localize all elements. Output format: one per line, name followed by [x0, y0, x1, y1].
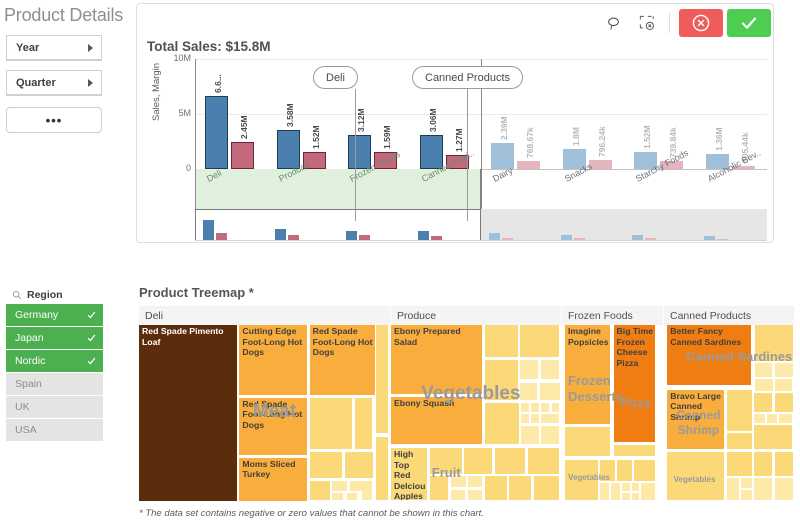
treemap-cell-small[interactable] [485, 325, 518, 357]
treemap-cell-small[interactable] [552, 403, 560, 412]
treemap-cell-label: Red Spade Pimento Loaf [142, 326, 235, 347]
minimap-baseline [195, 240, 767, 241]
treemap-cell-small[interactable] [347, 493, 357, 500]
treemap-cell-small[interactable] [600, 483, 609, 500]
treemap-cell-small[interactable] [541, 426, 559, 444]
chart-title: Total Sales: $15.8M [147, 39, 271, 54]
bar-value-label: 1.52M [311, 126, 321, 150]
treemap-cell-label: Ebony Prepared Salad [394, 326, 480, 347]
selection-tooltip[interactable]: Deli [313, 66, 358, 89]
treemap-cell-small[interactable] [741, 490, 751, 500]
treemap-cell[interactable]: Red Spade Foot-Long Hot Dogs [239, 398, 307, 456]
caret-right-icon [88, 44, 93, 52]
search-icon[interactable] [12, 290, 22, 300]
treemap-cell-label: Cutting Edge Foot-Long Hot Dogs [242, 326, 305, 358]
filter-button-quarter[interactable]: Quarter [6, 70, 102, 96]
treemap-group-canned-products: Canned ProductsBetter Fancy Canned Sardi… [664, 306, 794, 502]
treemap-cell-small[interactable] [541, 360, 560, 379]
bar-value-label: 3.06M [428, 109, 438, 133]
treemap-group-body: Better Fancy Canned SardinesBravo Large … [664, 325, 794, 502]
treemap-cell[interactable]: Moms Sliced Turkey [239, 458, 307, 501]
bar-group[interactable]: 1.8M796.24k [553, 59, 625, 169]
treemap-cell-small[interactable] [600, 460, 615, 482]
bar-value-label: 1.52M [642, 126, 652, 150]
treemap-cell-small[interactable] [531, 414, 539, 423]
region-item-germany[interactable]: Germany [6, 304, 103, 326]
treemap-cell-small[interactable] [310, 452, 342, 478]
treemap-cell-small[interactable] [355, 398, 372, 450]
clear-selection-icon[interactable] [630, 8, 664, 38]
lasso-selection-icon[interactable] [596, 8, 630, 38]
treemap-cell[interactable]: Big Time Frozen Cheese Pizza [614, 325, 656, 442]
treemap-group-body: Imagine PopsiclesBig Time Frozen Cheese … [562, 325, 663, 502]
bar-sales[interactable] [491, 143, 514, 169]
treemap-cell-small[interactable] [521, 414, 529, 423]
treemap-cell-small[interactable] [520, 383, 537, 400]
bar-value-label: 1.59M [382, 125, 392, 149]
treemap-cell-small[interactable] [540, 383, 560, 400]
treemap-cell-small[interactable] [485, 360, 518, 399]
product-treemap[interactable]: DeliRed Spade Pimento LoafCutting Edge F… [139, 306, 794, 502]
treemap-cell-small[interactable] [376, 437, 388, 501]
treemap-cell-small[interactable] [332, 493, 343, 500]
treemap-cell-small[interactable] [565, 460, 598, 501]
treemap-group-header: Deli [139, 306, 390, 325]
treemap-cell-label: Moms Sliced Turkey [242, 459, 305, 480]
y-axis-tick: 5M [161, 108, 191, 118]
treemap-cell-small[interactable] [350, 481, 362, 491]
treemap-cell-small[interactable] [509, 476, 531, 500]
treemap-cell-small[interactable] [520, 360, 538, 379]
treemap-cell-small[interactable] [531, 403, 539, 412]
tooltip-stem [355, 89, 356, 221]
treemap-cell-label: High Top Red Delcious Apples [394, 449, 425, 500]
bar-margin[interactable] [231, 142, 254, 169]
page-title: Product Details [0, 0, 135, 26]
bar-value-label: 3.12M [356, 108, 366, 132]
treemap-cell-small[interactable] [485, 476, 507, 500]
treemap-cell-small[interactable] [521, 426, 539, 444]
treemap-cell-small[interactable] [485, 403, 518, 444]
check-icon [87, 334, 96, 343]
treemap-cell-small[interactable] [622, 493, 630, 500]
region-item-nordic[interactable]: Nordic [6, 350, 103, 372]
bar-sales[interactable] [205, 96, 228, 169]
treemap-cell-small[interactable] [727, 478, 739, 500]
region-item-spain[interactable]: Spain [6, 373, 103, 395]
treemap-cell-small[interactable] [541, 414, 559, 423]
treemap-group-header: Produce [391, 306, 561, 325]
region-item-label: Germany [15, 309, 58, 321]
treemap-cell-small[interactable] [614, 445, 656, 456]
treemap-title: Product Treemap * [139, 285, 254, 300]
treemap-cell-small[interactable] [534, 476, 560, 500]
bar-value-label: 2.45M [239, 115, 249, 139]
filter-button-year[interactable]: Year [6, 35, 102, 61]
treemap-cell-small[interactable] [754, 478, 773, 500]
selection-tooltip[interactable]: Canned Products [412, 66, 523, 89]
treemap-group-body: Red Spade Pimento LoafCutting Edge Foot-… [139, 325, 390, 502]
y-axis-tick: 0 [161, 163, 191, 173]
treemap-cell-small[interactable] [495, 448, 526, 474]
treemap-cell[interactable]: High Top Red Delcious Apples [391, 448, 427, 500]
treemap-cell-small[interactable] [755, 379, 773, 391]
treemap-cell-small[interactable] [541, 403, 549, 412]
treemap-cell-label: Ebony Squash [394, 398, 480, 409]
bar-sales[interactable] [277, 130, 300, 169]
treemap-cell-small[interactable] [528, 448, 560, 474]
treemap-cell-small[interactable] [310, 398, 352, 450]
region-item-label: Spain [15, 378, 42, 390]
selection-tooltip-label: Deli [326, 72, 345, 84]
treemap-cell-small[interactable] [520, 325, 559, 357]
treemap-cell-small[interactable] [611, 483, 620, 500]
treemap-cell-small[interactable] [310, 481, 330, 501]
treemap-cell-small[interactable] [332, 481, 347, 491]
treemap-cell-small[interactable] [775, 379, 792, 391]
check-icon [87, 357, 96, 366]
cancel-selection-button[interactable] [679, 9, 723, 37]
minimap-bar [489, 233, 500, 240]
caret-right-icon [88, 79, 93, 87]
treemap-cell-small[interactable] [741, 478, 751, 488]
treemap-group-deli: DeliRed Spade Pimento LoafCutting Edge F… [139, 306, 390, 502]
bar-value-label: 6.6... [213, 75, 223, 94]
treemap-cell-small[interactable] [430, 476, 448, 500]
treemap-cell[interactable]: Red Spade Pimento Loaf [139, 325, 237, 501]
treemap-cell-label: Red Spade Foot-Long Hot Dogs [242, 399, 305, 431]
bar-chart-plot[interactable]: Sales, Margin 05M10M 6.6...2.45M3.58M1.5… [137, 59, 775, 209]
minimap-bar [346, 231, 357, 240]
treemap-cell[interactable]: Ebony Squash [391, 397, 482, 444]
region-filter-title: Region [27, 289, 63, 301]
more-options-button[interactable]: ••• [6, 107, 102, 133]
treemap-cell-small[interactable] [727, 390, 752, 431]
treemap-cell[interactable]: Ebony Prepared Salad [391, 325, 482, 394]
y-axis-tick: 10M [161, 53, 191, 63]
region-list: GermanyJapanNordicSpainUKUSA [6, 304, 103, 441]
region-item-label: Nordic [15, 355, 45, 367]
minimap-bar [275, 229, 286, 240]
minimap-bar [203, 220, 214, 240]
bar-value-label: 3.58M [285, 103, 295, 127]
treemap-cell-small[interactable] [632, 483, 640, 490]
region-filter-panel: Region GermanyJapanNordicSpainUKUSA [6, 285, 103, 442]
left-sidebar: Product Details Year Quarter ••• Region … [0, 0, 135, 530]
treemap-cell-small[interactable] [622, 483, 630, 490]
bar-value-label: 2.39M [499, 116, 509, 140]
ellipsis-icon: ••• [46, 113, 63, 128]
treemap-cell-small[interactable] [767, 414, 777, 422]
treemap-cell-small[interactable] [779, 414, 792, 422]
treemap-group-produce: ProduceEbony Prepared SaladEbony SquashH… [391, 306, 561, 502]
treemap-group-header: Canned Products [664, 306, 794, 325]
treemap-cell-small[interactable] [634, 460, 655, 482]
treemap-cell-small[interactable] [755, 363, 772, 377]
chart-selection-toolbar [596, 6, 771, 40]
treemap-cell-small[interactable] [468, 476, 482, 487]
treemap-cell-small[interactable] [521, 403, 529, 412]
treemap-cell-label: Big Time Frozen Cheese Pizza [617, 326, 654, 368]
bar-value-label: 768.67k [525, 127, 535, 158]
treemap-cell-small[interactable] [451, 476, 467, 487]
treemap-cell-label: Red Spade Foot-Long Hot Dogs [313, 326, 373, 358]
y-axis-ticks: 05M10M [159, 59, 191, 169]
x-axis-label[interactable]: Deli [205, 168, 223, 184]
bar-chart-card: Total Sales: $15.8M Sales, Margin 05M10M… [136, 3, 774, 243]
treemap-cell-small[interactable] [468, 490, 483, 501]
treemap-cell-small[interactable] [641, 483, 655, 500]
treemap-cell-label: Imagine Popsicles [568, 326, 608, 347]
region-item-usa[interactable]: USA [6, 419, 103, 441]
region-item-japan[interactable]: Japan [6, 327, 103, 349]
treemap-cell-small[interactable] [667, 452, 723, 500]
treemap-footnote: * The data set contains negative or zero… [139, 508, 484, 519]
bar-value-label: 1.36M [714, 127, 724, 151]
treemap-cell-small[interactable] [430, 448, 462, 474]
region-item-label: USA [15, 424, 37, 436]
filter-button-year-label: Year [16, 42, 39, 54]
region-item-label: Japan [15, 332, 44, 344]
treemap-cell-small[interactable] [464, 448, 492, 474]
treemap-cell-small[interactable] [754, 452, 773, 475]
treemap-cell[interactable]: Bravo Large Canned Shrimp [667, 390, 723, 450]
treemap-cell-small[interactable] [775, 393, 793, 412]
treemap-cell-small[interactable] [775, 452, 793, 475]
minimap-bar [216, 233, 227, 240]
region-filter-header: Region [6, 285, 103, 304]
confirm-selection-button[interactable] [727, 9, 771, 37]
check-icon [87, 311, 96, 320]
bar-margin[interactable] [517, 161, 540, 169]
region-item-uk[interactable]: UK [6, 396, 103, 418]
bar-value-label: 1.27M [454, 128, 464, 152]
selection-tooltip-label: Canned Products [425, 72, 510, 84]
treemap-cell[interactable]: Cutting Edge Foot-Long Hot Dogs [239, 325, 307, 395]
toolbar-divider [669, 13, 670, 33]
bar-value-label: 796.24k [597, 127, 607, 158]
tooltip-stem [467, 89, 468, 221]
treemap-cell[interactable]: Imagine Popsicles [565, 325, 610, 424]
treemap-cell-small[interactable] [376, 325, 388, 433]
treemap-cell-small[interactable] [775, 363, 793, 377]
treemap-cell-small[interactable] [451, 490, 466, 501]
minimap-bar [418, 231, 429, 240]
bar-group[interactable]: 6.6...2.45M [195, 59, 267, 169]
treemap-cell[interactable]: Better Fancy Canned Sardines [667, 325, 751, 385]
treemap-group-body: Ebony Prepared SaladEbony SquashHigh Top… [391, 325, 561, 502]
bar-value-label: 1.8M [571, 127, 581, 146]
treemap-cell-small[interactable] [754, 425, 793, 449]
treemap-cell-label: Bravo Large Canned Shrimp [670, 391, 721, 423]
treemap-cell-small[interactable] [362, 481, 372, 501]
filter-button-quarter-label: Quarter [16, 77, 56, 89]
treemap-cell-small[interactable] [754, 393, 773, 412]
chart-scrollbar-minimap[interactable] [195, 209, 767, 241]
treemap-cell-small[interactable] [755, 325, 793, 361]
treemap-cell-small[interactable] [727, 452, 752, 475]
treemap-cell-label: Better Fancy Canned Sardines [670, 326, 749, 347]
selection-band-edge [195, 59, 196, 221]
treemap-cell-small[interactable] [754, 414, 765, 422]
treemap-cell-small[interactable] [565, 427, 610, 456]
region-item-label: UK [15, 401, 30, 413]
treemap-cell[interactable]: Red Spade Foot-Long Hot Dogs [310, 325, 375, 395]
treemap-group-header: Frozen Foods [562, 306, 663, 325]
treemap-cell-small[interactable] [775, 478, 793, 500]
treemap-cell-small[interactable] [727, 433, 752, 449]
treemap-cell-small[interactable] [632, 493, 640, 500]
treemap-cell-small[interactable] [345, 452, 374, 478]
treemap-cell-small[interactable] [617, 460, 632, 482]
treemap-group-frozen-foods: Frozen FoodsImagine PopsiclesBig Time Fr… [562, 306, 663, 502]
